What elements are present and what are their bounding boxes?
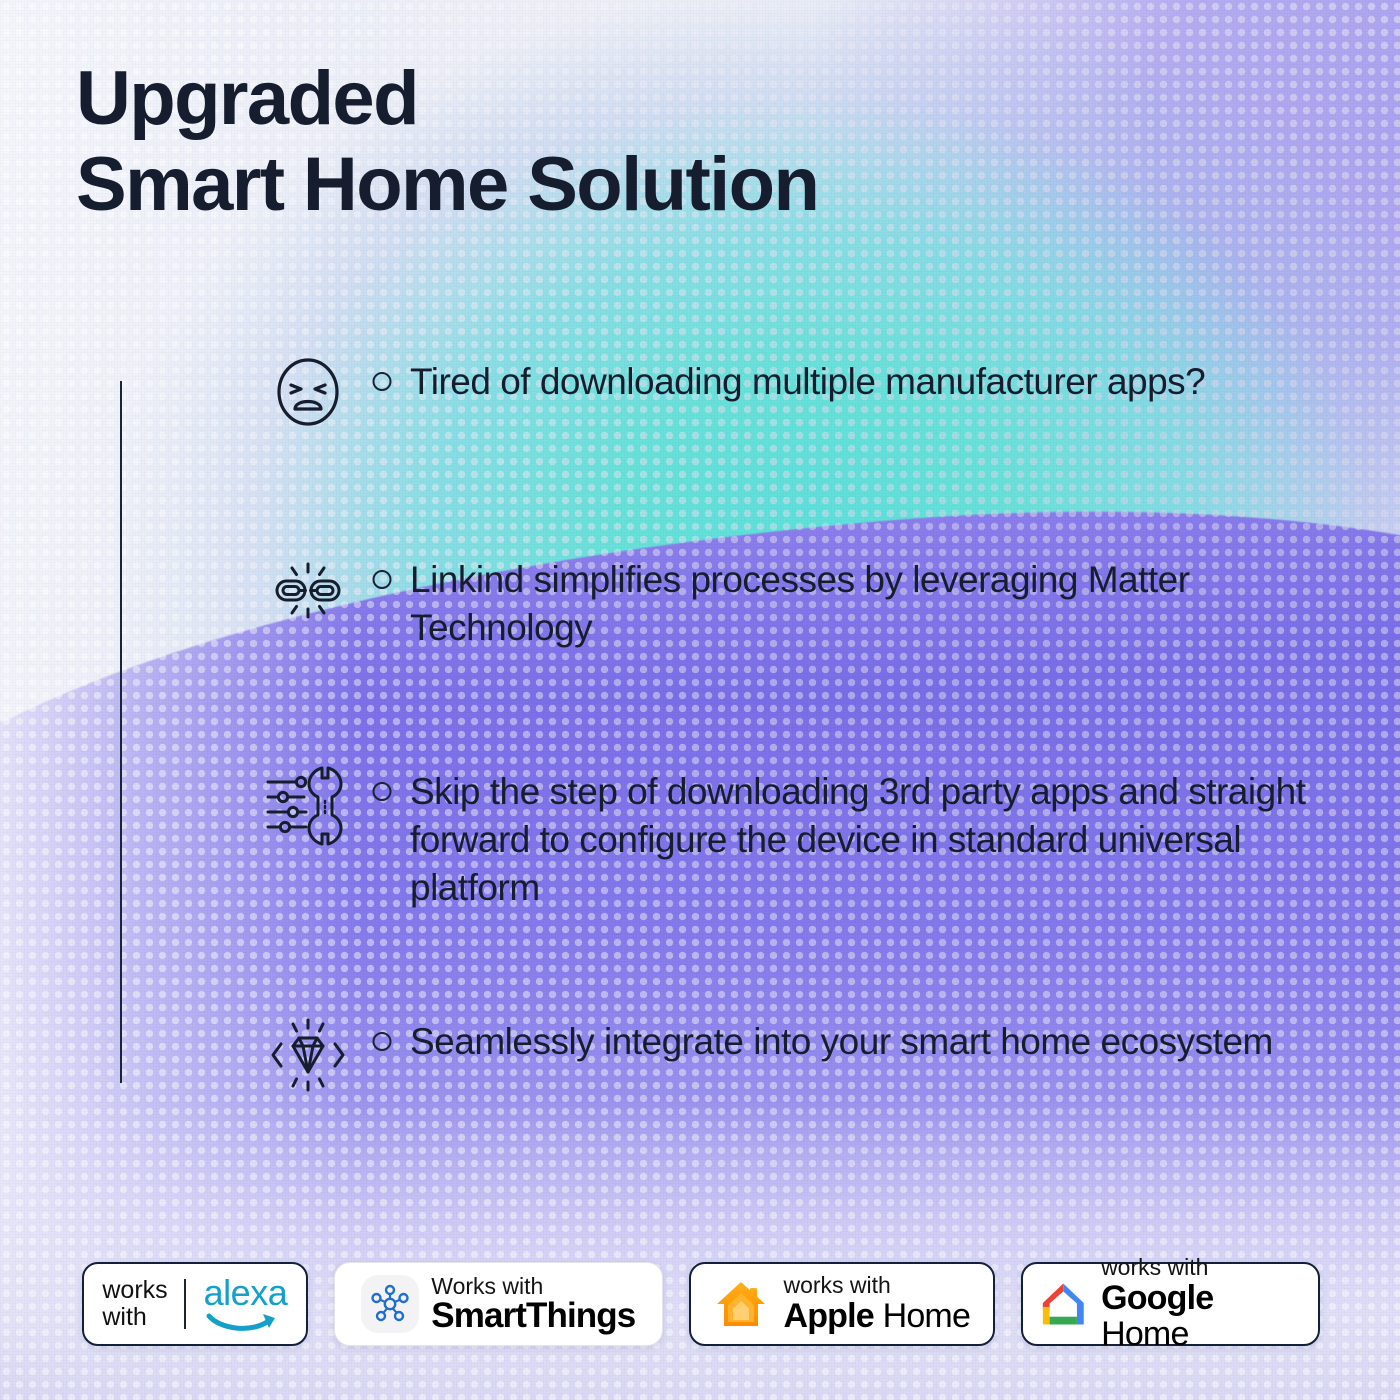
diamond-sparkle-icon <box>262 1012 354 1098</box>
timeline-dot <box>373 570 392 589</box>
badge-works-with-apple-home[interactable]: works with Apple Home <box>689 1262 994 1346</box>
alexa-wordmark: alexa <box>204 1276 288 1310</box>
feature-text: Skip the step of downloading 3rd party a… <box>410 762 1352 912</box>
smartthings-works-with: Works with <box>431 1274 635 1298</box>
timeline-node <box>354 1012 410 1098</box>
apple-home-suffix: Home <box>883 1297 971 1335</box>
page-title-line-2: Smart Home Solution <box>76 142 1096 228</box>
amazon-smile-icon <box>206 1310 284 1332</box>
feature-item: Linkind simplifies processes by leveragi… <box>262 550 1352 652</box>
promo-poster: Upgraded Smart Home Solution <box>0 0 1400 1400</box>
page-title: Upgraded Smart Home Solution <box>76 56 1096 228</box>
timeline-dot <box>373 372 392 391</box>
google-home-brand: Google <box>1101 1279 1213 1317</box>
apple-home-label: works with Apple Home <box>783 1273 970 1335</box>
timeline-node <box>354 352 410 430</box>
apple-home-house-icon <box>713 1276 769 1332</box>
apple-home-wordmark: Apple Home <box>783 1298 970 1335</box>
alexa-works-with-label: works with <box>102 1277 183 1331</box>
google-home-suffix: Home <box>1101 1315 1189 1353</box>
google-home-works-with: works with <box>1101 1255 1304 1280</box>
smartthings-wordmark: SmartThings <box>431 1298 635 1335</box>
compatibility-badge-row: works with alexa <box>82 1262 1320 1346</box>
feature-text: Tired of downloading multiple manufactur… <box>410 352 1352 406</box>
badge-works-with-smartthings[interactable]: Works with SmartThings <box>334 1262 663 1346</box>
feature-item: Tired of downloading multiple manufactur… <box>262 352 1352 430</box>
badge-works-with-alexa[interactable]: works with alexa <box>82 1262 308 1346</box>
timeline-connector-line <box>120 381 122 1083</box>
smartthings-hub-icon <box>361 1275 419 1333</box>
tired-face-icon <box>262 352 354 430</box>
apple-home-brand: Apple <box>783 1297 873 1335</box>
settings-wrench-icon <box>262 762 354 848</box>
timeline-node <box>354 550 410 652</box>
feature-item: Seamlessly integrate into your smart hom… <box>262 1012 1352 1098</box>
timeline-dot <box>373 1032 392 1051</box>
timeline-node <box>354 762 410 912</box>
google-home-house-icon <box>1037 1277 1090 1331</box>
amazon-alexa-logo: alexa <box>204 1276 288 1332</box>
smartthings-label: Works with SmartThings <box>431 1274 635 1335</box>
timeline-dot <box>373 782 392 801</box>
alexa-works-line-1: works <box>102 1277 167 1304</box>
feature-item: Skip the step of downloading 3rd party a… <box>262 762 1352 912</box>
google-home-label: works with Google Home <box>1101 1255 1304 1353</box>
broken-link-icon <box>262 550 354 628</box>
feature-text: Linkind simplifies processes by leveragi… <box>410 550 1352 652</box>
alexa-works-line-2: with <box>102 1304 167 1331</box>
feature-text: Seamlessly integrate into your smart hom… <box>410 1012 1352 1066</box>
apple-home-works-with: works with <box>783 1273 970 1298</box>
badge-works-with-google-home[interactable]: works with Google Home <box>1021 1262 1321 1346</box>
google-home-wordmark: Google Home <box>1101 1280 1304 1353</box>
alexa-divider <box>184 1279 186 1329</box>
feature-list: Tired of downloading multiple manufactur… <box>262 352 1352 1098</box>
page-title-line-1: Upgraded <box>76 56 1096 142</box>
